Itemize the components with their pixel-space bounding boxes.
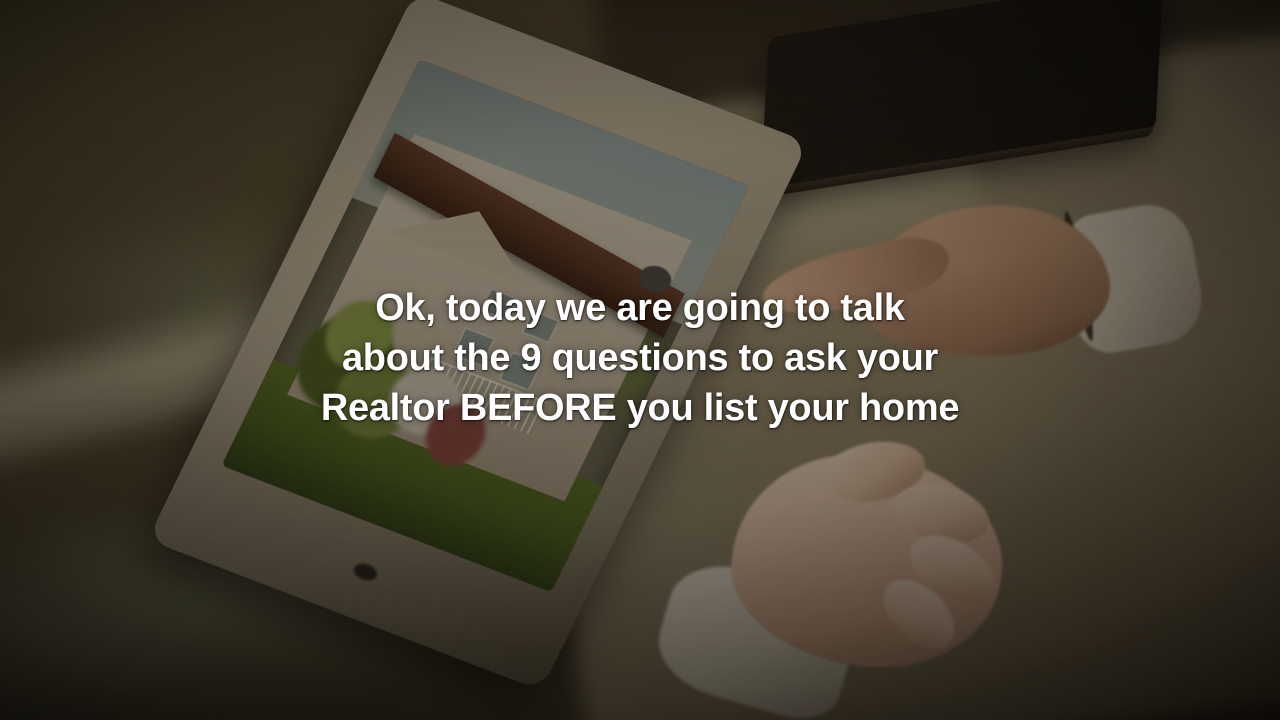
vignette-overlay [0, 0, 1280, 720]
video-frame: Ok, today we are going to talk about the… [0, 0, 1280, 720]
background-photo [0, 0, 1280, 720]
